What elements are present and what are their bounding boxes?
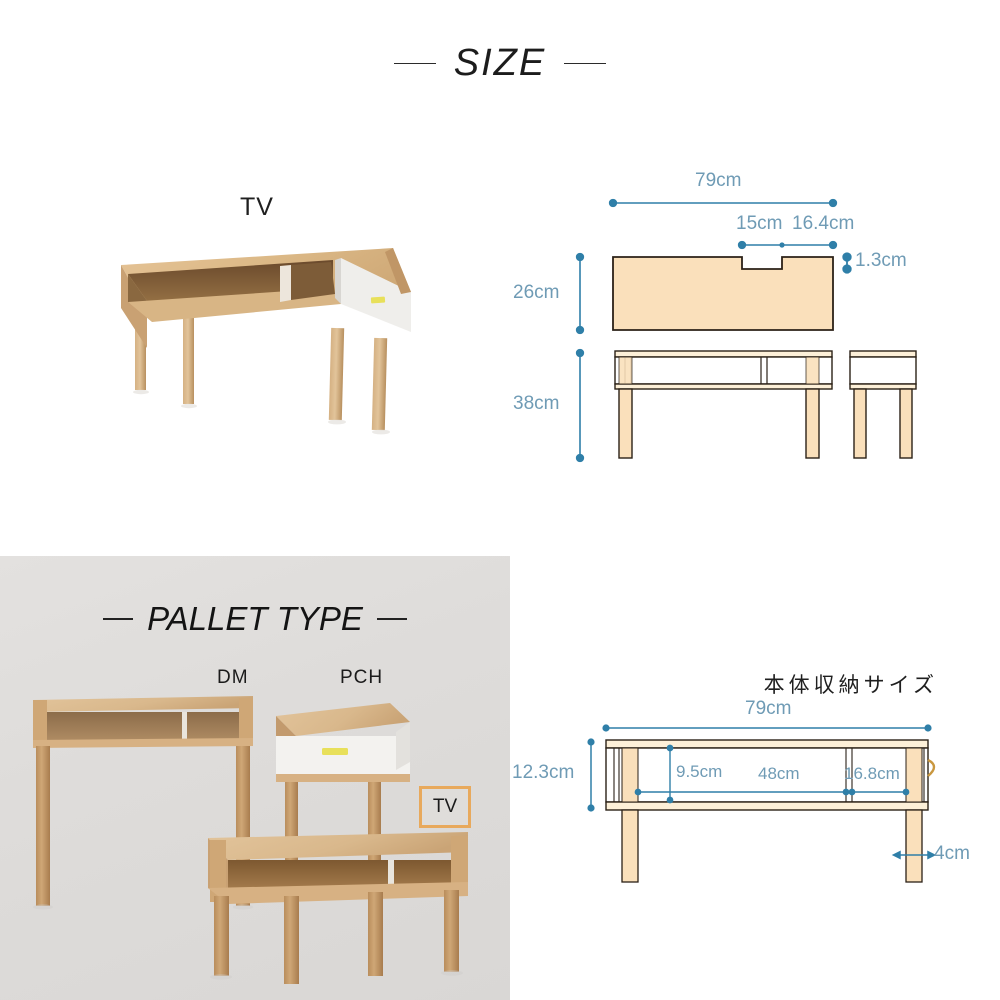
dim-15cm: 15cm (736, 213, 782, 235)
size-spec-page: SIZE TV (0, 0, 1000, 1000)
heading-rule-right (564, 63, 606, 64)
dim-26cm: 26cm (513, 282, 559, 304)
tv-bench-product-image (95, 240, 425, 450)
photo-label-dm: DM (217, 667, 249, 689)
dim-4cm: 4cm (934, 843, 970, 865)
dim-79cm-top: 79cm (695, 170, 741, 192)
photo-label-tv-box: TV (419, 786, 471, 828)
dim-9-5cm: 9.5cm (676, 762, 722, 782)
storage-technical-drawing: 79cm 12.3cm 9.5cm 48cm 16.8cm 4cm (510, 700, 990, 890)
heading-rule-left (394, 63, 436, 64)
tv-product-label: TV (240, 193, 274, 222)
size-heading: SIZE (0, 42, 1000, 85)
dim-16-8cm: 16.8cm (844, 764, 900, 784)
photo-label-pch: PCH (340, 667, 383, 689)
size-heading-label: SIZE (454, 42, 546, 85)
dim-38cm: 38cm (513, 393, 559, 415)
pallet-type-photo: PALLET TYPE (0, 556, 510, 1000)
dim-12-3cm: 12.3cm (512, 762, 574, 784)
dim-79cm-storage: 79cm (745, 698, 791, 720)
storage-size-caption: 本体収納サイズ (764, 669, 938, 699)
dim-48cm: 48cm (758, 764, 800, 784)
top-technical-drawing: 79cm 15cm 16.4cm 26cm 1.3cm 38cm (495, 165, 965, 475)
dim-16-4cm: 16.4cm (792, 213, 854, 235)
dim-1-3cm: 1.3cm (855, 250, 907, 272)
